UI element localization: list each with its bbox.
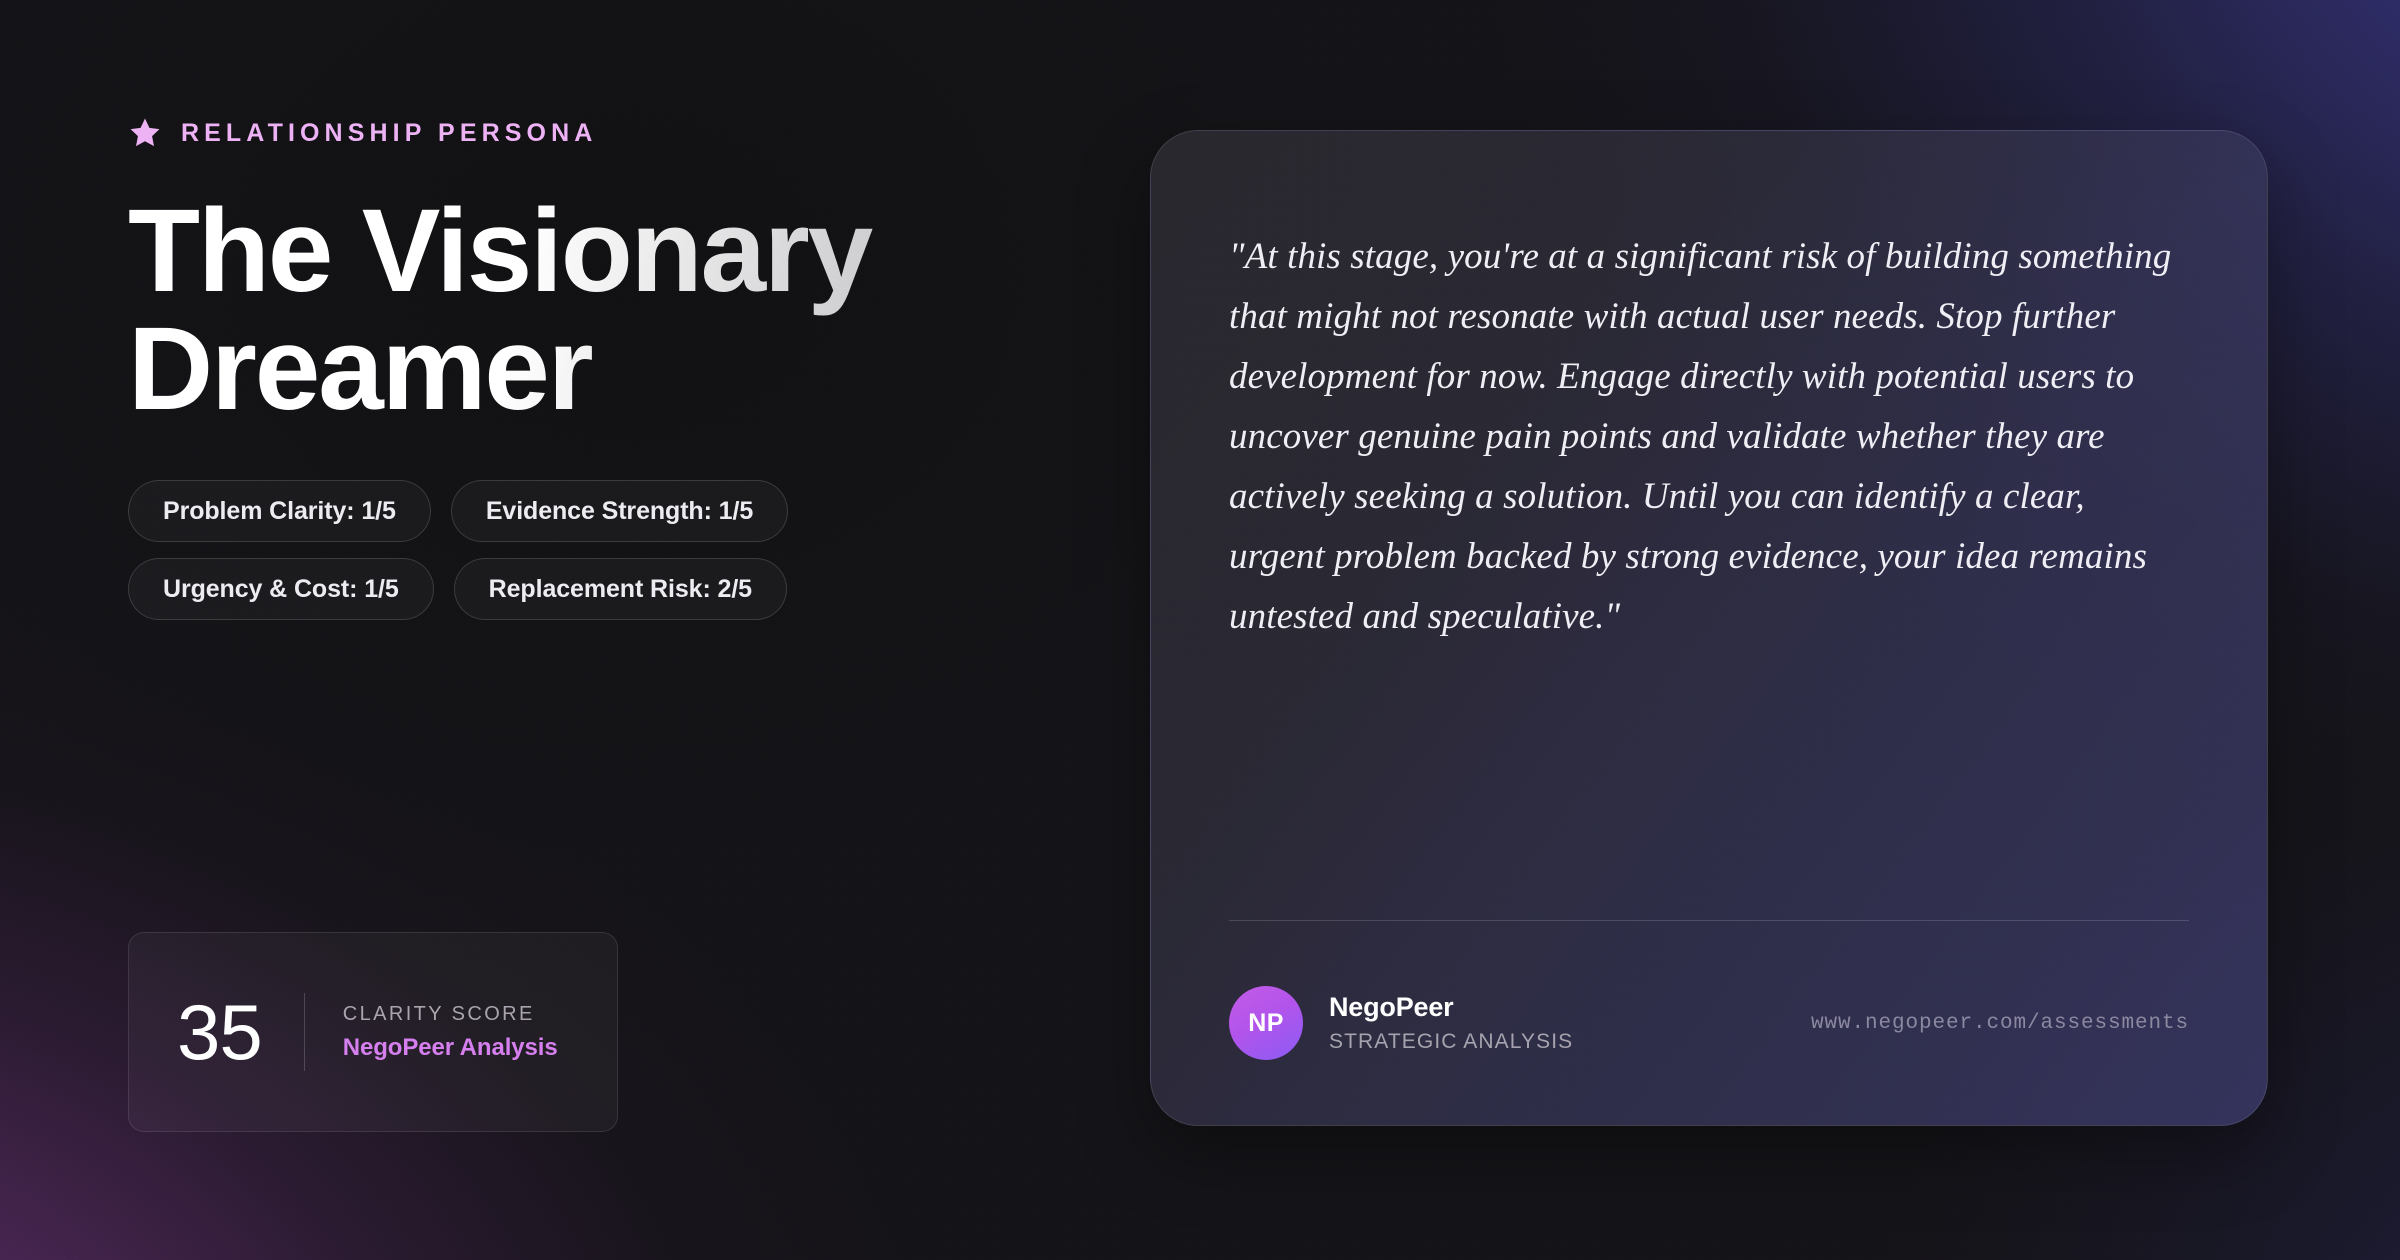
- metric-pill-group: Problem Clarity: 1/5 Evidence Strength: …: [128, 480, 848, 620]
- eyebrow-label: RELATIONSHIP PERSONA: [181, 121, 597, 146]
- avatar: NP: [1229, 986, 1303, 1060]
- eyebrow: RELATIONSHIP PERSONA: [128, 112, 1128, 154]
- brand-block: NP NegoPeer STRATEGIC ANALYSIS: [1229, 986, 1573, 1060]
- metric-pill-problem-clarity: Problem Clarity: 1/5: [128, 480, 431, 542]
- brand-name: NegoPeer: [1329, 993, 1573, 1023]
- quote-card: "At this stage, you're at a significant …: [1150, 130, 2268, 1126]
- quote-text: "At this stage, you're at a significant …: [1229, 227, 2189, 647]
- clarity-score-label: CLARITY SCORE: [343, 1004, 558, 1024]
- left-column: RELATIONSHIP PERSONA The Visionary Dream…: [128, 112, 1128, 620]
- persona-card-canvas: RELATIONSHIP PERSONA The Visionary Dream…: [0, 0, 2400, 1260]
- metric-pill-evidence-strength: Evidence Strength: 1/5: [451, 480, 788, 542]
- clarity-score-card: 35 CLARITY SCORE NegoPeer Analysis: [128, 932, 618, 1132]
- metric-pill-replacement-risk: Replacement Risk: 2/5: [454, 558, 787, 620]
- brand-lines: NegoPeer STRATEGIC ANALYSIS: [1329, 993, 1573, 1053]
- clarity-score-value: 35: [177, 993, 262, 1071]
- clarity-score-brand: NegoPeer Analysis: [343, 1036, 558, 1060]
- score-card-meta: CLARITY SCORE NegoPeer Analysis: [343, 1004, 558, 1060]
- score-card-divider: [304, 993, 305, 1071]
- metric-pill-urgency-and-cost: Urgency & Cost: 1/5: [128, 558, 434, 620]
- star-icon: [128, 116, 162, 150]
- brand-url: www.negopeer.com/assessments: [1811, 1012, 2189, 1035]
- quote-card-footer: NP NegoPeer STRATEGIC ANALYSIS www.negop…: [1229, 921, 2189, 1125]
- brand-subtitle: STRATEGIC ANALYSIS: [1329, 1030, 1573, 1053]
- page-title: The Visionary Dreamer: [128, 192, 1058, 428]
